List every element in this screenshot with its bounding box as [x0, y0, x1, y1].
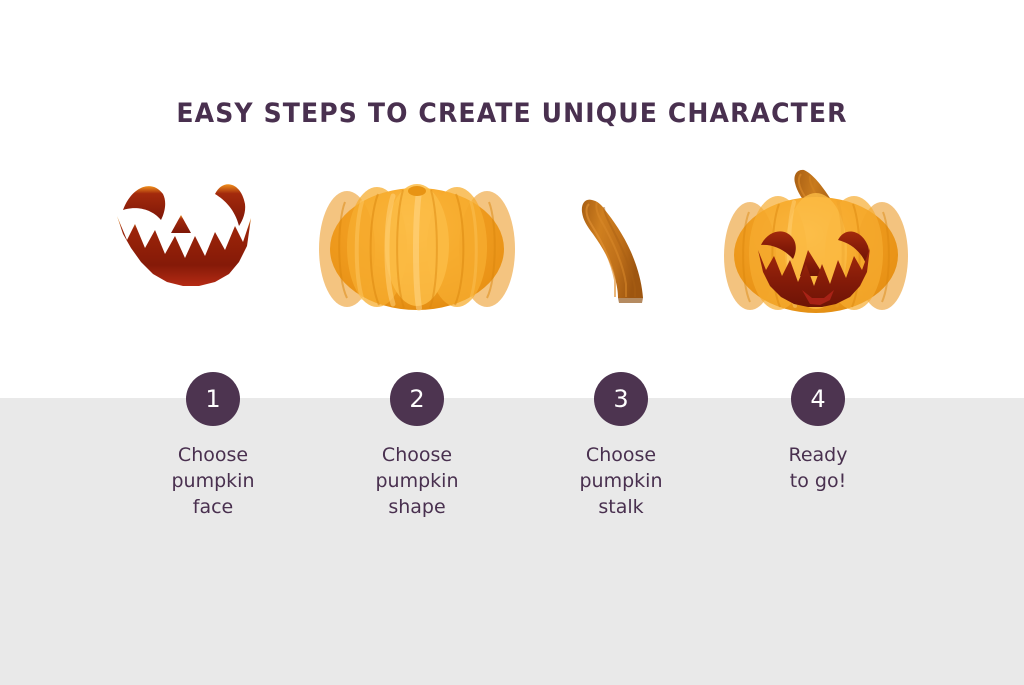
- step-number-1: 1: [186, 372, 240, 426]
- pumpkin-stalk-icon: [519, 150, 723, 335]
- art-pumpkin-body: [315, 150, 519, 335]
- pumpkin-complete-icon: [716, 150, 920, 335]
- pumpkin-face-icon: [111, 150, 315, 335]
- step-caption-2: Choose pumpkin shape: [315, 442, 519, 520]
- page-title: EASY STEPS TO CREATE UNIQUE CHARACTER: [36, 98, 988, 129]
- step-number-3: 3: [594, 372, 648, 426]
- art-pumpkin-face: [111, 150, 315, 335]
- step-number-2: 2: [390, 372, 444, 426]
- art-pumpkin-stalk: [519, 150, 723, 335]
- infographic-canvas: EASY STEPS TO CREATE UNIQUE CHARACTER: [0, 0, 1024, 685]
- step-2: 2 Choose pumpkin shape: [315, 150, 519, 550]
- step-number-4: 4: [791, 372, 845, 426]
- step-3: 3 Choose pumpkin stalk: [519, 150, 723, 550]
- step-caption-3: Choose pumpkin stalk: [519, 442, 723, 520]
- step-1: 1 Choose pumpkin face: [111, 150, 315, 550]
- step-4: 4 Ready to go!: [716, 150, 920, 550]
- step-caption-4: Ready to go!: [716, 442, 920, 494]
- step-caption-1: Choose pumpkin face: [111, 442, 315, 520]
- art-pumpkin-complete: [716, 150, 920, 335]
- pumpkin-body-icon: [315, 150, 519, 335]
